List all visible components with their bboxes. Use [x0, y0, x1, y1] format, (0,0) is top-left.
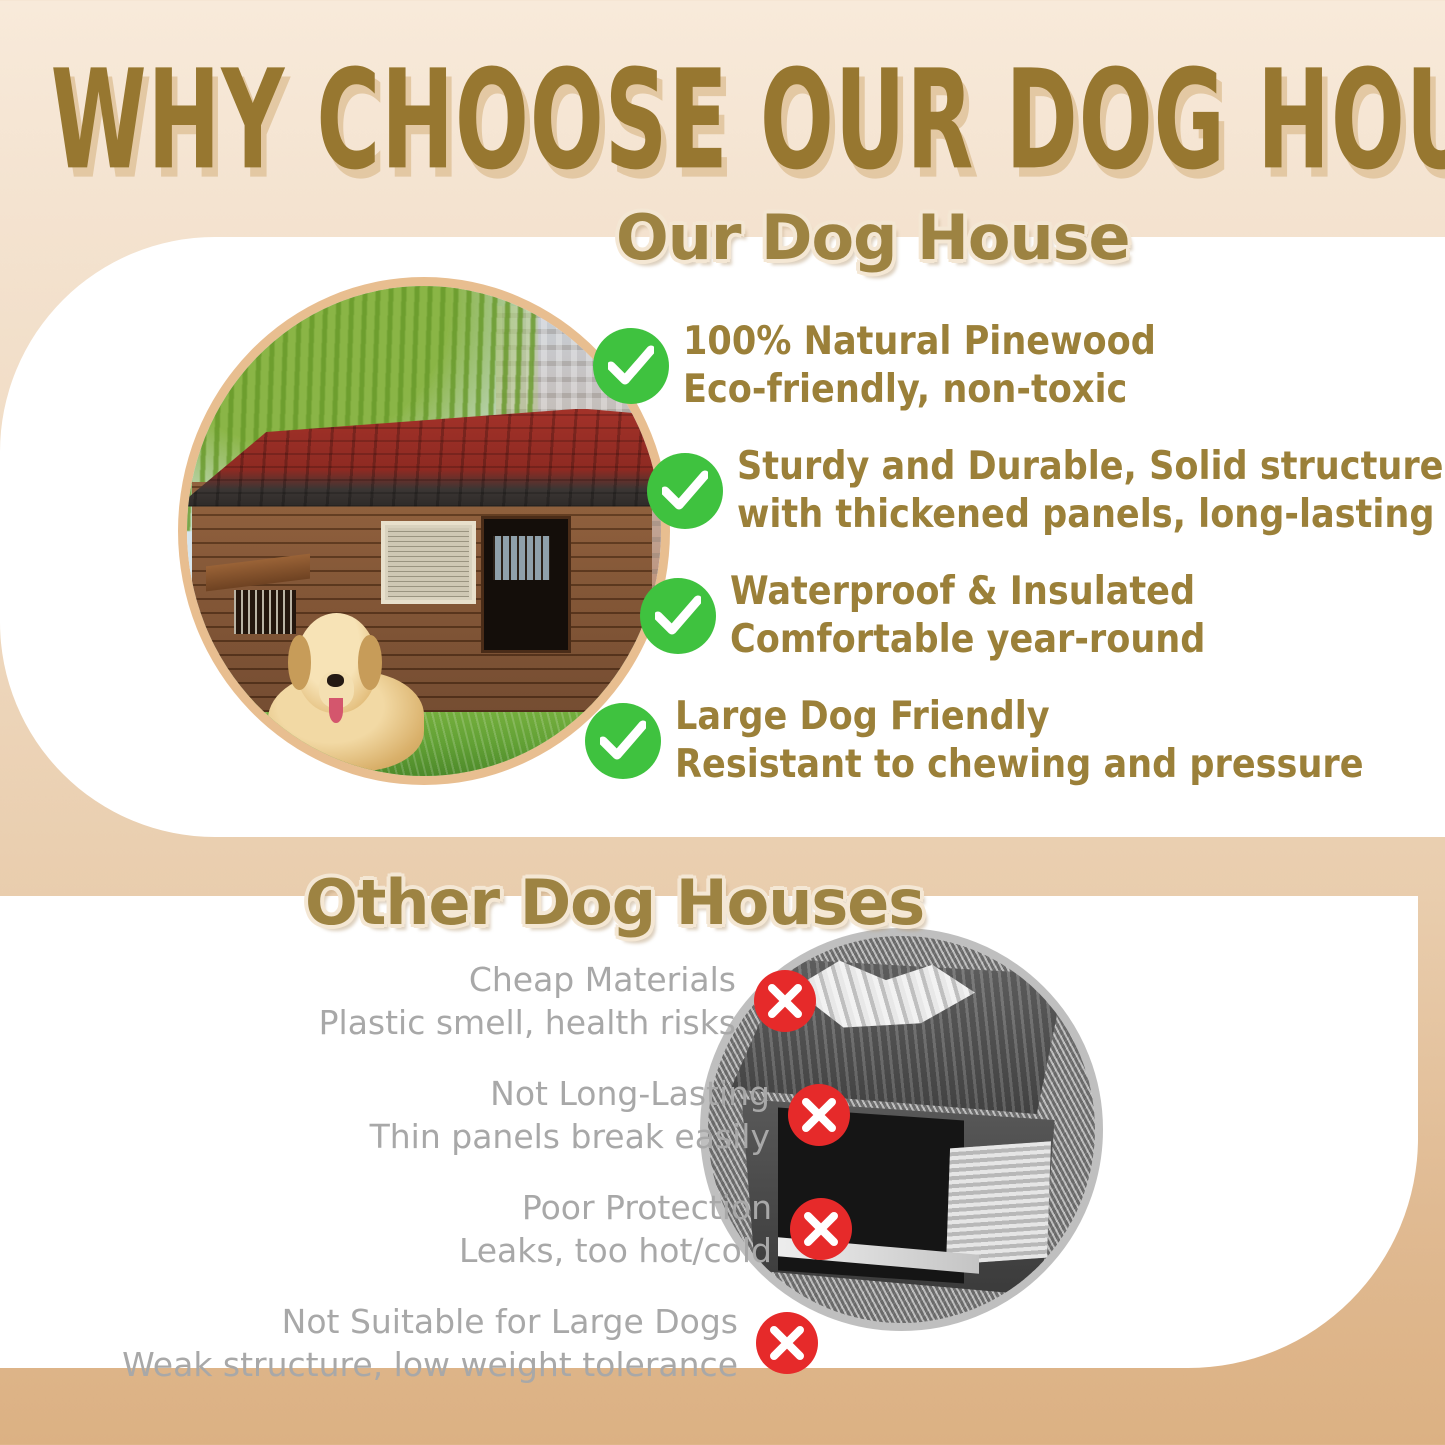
pro-item: 100% Natural Pinewood Eco-friendly, non-…	[585, 318, 1385, 414]
photo-golden-retriever	[268, 609, 424, 771]
cons-list: Cheap Materials Plastic smell, health ri…	[110, 958, 810, 1386]
pro-line-2: Comfortable year-round	[730, 616, 1205, 664]
pro-line-1: Waterproof & Insulated	[730, 569, 1195, 614]
banner-title-area: WHY CHOOSE OUR DOG HOUSE?"	[0, 42, 1445, 167]
con-text: Not Suitable for Large Dogs Weak structu…	[122, 1300, 738, 1386]
pro-item: Waterproof & Insulated Comfortable year-…	[585, 568, 1385, 664]
dog-tongue	[329, 698, 343, 722]
pro-text: Large Dog Friendly Resistant to chewing …	[675, 693, 1364, 789]
cross-circle-icon	[754, 970, 816, 1032]
pro-text: Sturdy and Durable, Solid structure with…	[737, 443, 1443, 539]
con-line-2: Plastic smell, health risks	[319, 1001, 736, 1044]
con-line-2: Leaks, too hot/cold	[459, 1229, 772, 1272]
check-circle-icon	[640, 578, 716, 654]
check-circle-icon	[585, 703, 661, 779]
dog-nose	[327, 674, 344, 687]
our-dog-house-heading: Our Dog House	[616, 207, 1130, 269]
con-text: Not Long-Lasting Thin panels break easil…	[370, 1072, 770, 1158]
page-title: WHY CHOOSE OUR DOG HOUSE?"	[51, 42, 1395, 198]
pros-list: 100% Natural Pinewood Eco-friendly, non-…	[585, 318, 1385, 789]
check-circle-icon	[647, 453, 723, 529]
photo-mesh-window	[381, 521, 476, 604]
con-item: Poor Protection Leaks, too hot/cold	[110, 1186, 810, 1272]
dog-ear-right	[358, 635, 381, 690]
con-line-1: Cheap Materials	[469, 960, 736, 999]
con-item: Not Long-Lasting Thin panels break easil…	[110, 1072, 810, 1158]
cross-circle-icon	[788, 1084, 850, 1146]
pro-text: 100% Natural Pinewood Eco-friendly, non-…	[683, 318, 1156, 414]
con-line-1: Not Suitable for Large Dogs	[282, 1302, 738, 1341]
con-text: Cheap Materials Plastic smell, health ri…	[319, 958, 736, 1044]
cross-circle-icon	[790, 1198, 852, 1260]
pro-item: Large Dog Friendly Resistant to chewing …	[585, 693, 1385, 789]
pro-item: Sturdy and Durable, Solid structure with…	[585, 443, 1385, 539]
other-dog-houses-heading: Other Dog Houses	[305, 872, 924, 934]
check-circle-icon	[593, 328, 669, 404]
con-line-2: Weak structure, low weight tolerance	[122, 1343, 738, 1386]
cross-circle-icon	[756, 1312, 818, 1374]
pro-line-2: with thickened panels, long-lasting	[737, 491, 1443, 539]
photo-loose-panel	[946, 1141, 1051, 1265]
pro-line-2: Eco-friendly, non-toxic	[683, 366, 1156, 414]
pro-line-2: Resistant to chewing and pressure	[675, 741, 1364, 789]
con-line-1: Not Long-Lasting	[490, 1074, 770, 1113]
pro-line-1: 100% Natural Pinewood	[683, 319, 1156, 364]
con-line-1: Poor Protection	[522, 1188, 772, 1227]
pro-line-1: Sturdy and Durable, Solid structure	[737, 444, 1443, 489]
con-text: Poor Protection Leaks, too hot/cold	[459, 1186, 772, 1272]
con-item: Not Suitable for Large Dogs Weak structu…	[110, 1300, 810, 1386]
con-item: Cheap Materials Plastic smell, health ri…	[110, 958, 810, 1044]
con-line-2: Thin panels break easily	[370, 1115, 770, 1158]
pro-line-1: Large Dog Friendly	[675, 694, 1050, 739]
pro-text: Waterproof & Insulated Comfortable year-…	[730, 568, 1205, 664]
photo-door-window	[493, 536, 550, 580]
